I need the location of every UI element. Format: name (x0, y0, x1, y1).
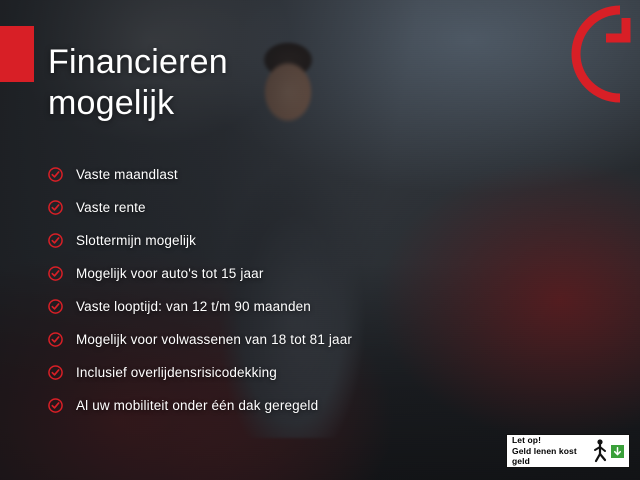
warning-badge-line-2: Geld lenen kost geld (512, 446, 588, 467)
red-square-accent (0, 26, 34, 82)
warning-badge-text: Let op! Geld lenen kost geld (512, 435, 588, 467)
feature-list: Vaste maandlast Vaste rente Slottermijn … (48, 158, 478, 422)
list-item-label: Inclusief overlijdensrisicodekking (76, 365, 277, 380)
check-circle-icon (48, 398, 63, 413)
headline-line-1: Financieren (48, 43, 228, 81)
list-item-label: Al uw mobiliteit onder één dak geregeld (76, 398, 318, 413)
list-item-label: Vaste rente (76, 200, 146, 215)
red-circular-arrow-accent (546, 2, 632, 106)
headline-line-2: mogelijk (48, 83, 228, 124)
check-circle-icon (48, 299, 63, 314)
check-circle-icon (48, 167, 63, 182)
warning-badge: Let op! Geld lenen kost geld (506, 434, 630, 468)
check-circle-icon (48, 332, 63, 347)
warning-badge-line-1: Let op! (512, 435, 588, 446)
check-circle-icon (48, 266, 63, 281)
page-title: Financieren mogelijk (48, 42, 228, 125)
walking-person-icon (591, 438, 609, 464)
list-item: Mogelijk voor auto's tot 15 jaar (48, 257, 478, 290)
check-circle-icon (48, 233, 63, 248)
list-item: Vaste rente (48, 191, 478, 224)
down-arrow-icon (611, 445, 624, 458)
list-item-label: Vaste looptijd: van 12 t/m 90 maanden (76, 299, 311, 314)
promo-banner: Financieren mogelijk Vaste maandlast Vas… (0, 0, 640, 480)
list-item-label: Mogelijk voor auto's tot 15 jaar (76, 266, 263, 281)
list-item: Al uw mobiliteit onder één dak geregeld (48, 389, 478, 422)
check-circle-icon (48, 200, 63, 215)
list-item: Inclusief overlijdensrisicodekking (48, 356, 478, 389)
list-item: Vaste maandlast (48, 158, 478, 191)
list-item: Slottermijn mogelijk (48, 224, 478, 257)
list-item-label: Mogelijk voor volwassenen van 18 tot 81 … (76, 332, 352, 347)
check-circle-icon (48, 365, 63, 380)
list-item-label: Vaste maandlast (76, 167, 178, 182)
list-item: Mogelijk voor volwassenen van 18 tot 81 … (48, 323, 478, 356)
list-item-label: Slottermijn mogelijk (76, 233, 196, 248)
list-item: Vaste looptijd: van 12 t/m 90 maanden (48, 290, 478, 323)
